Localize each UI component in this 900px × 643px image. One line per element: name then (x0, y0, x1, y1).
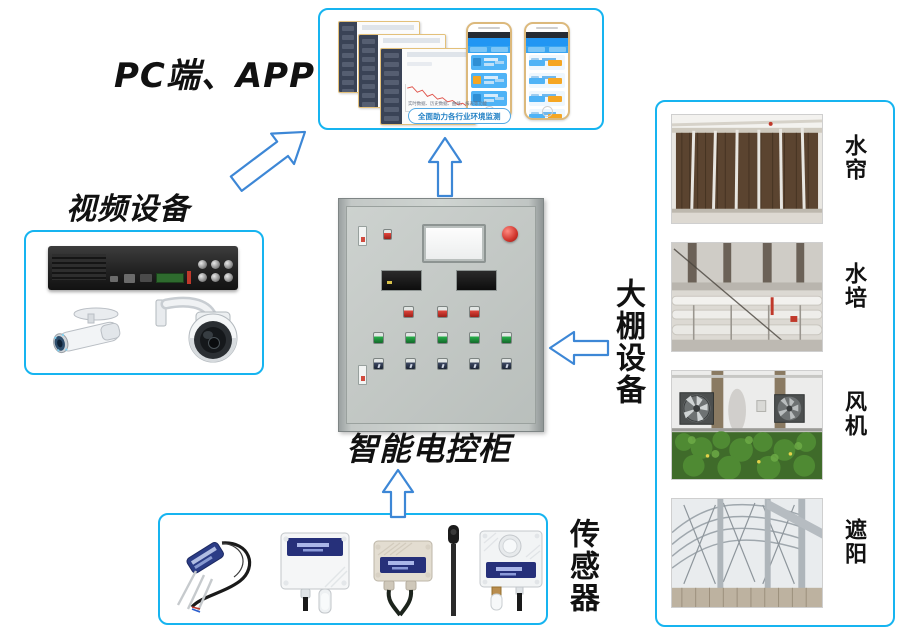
list-item (529, 73, 565, 88)
emergency-stop-button[interactable] (502, 226, 518, 242)
soil-moisture-sensor (170, 527, 262, 615)
greenhouse-item-label-hydroponics: 水培 (837, 262, 869, 310)
greenhouse-item-label-water-curtain: 水帘 (837, 134, 869, 182)
power-indicator (383, 229, 392, 240)
arrow-cabinet-to-pcapp (425, 136, 465, 198)
sidebar-mock (339, 22, 357, 92)
control-cabinet-label: 智能电控柜 (346, 424, 511, 470)
power-port (110, 276, 118, 282)
red-indicator[interactable] (437, 306, 448, 318)
hmi-touch-screen[interactable] (422, 224, 486, 263)
heatsink-fins (52, 254, 106, 280)
phone-control-list (524, 22, 570, 120)
selector-switch[interactable] (501, 358, 512, 370)
photo-water-curtain (671, 114, 823, 224)
greenhouse-item-label-exhaust-fan: 风机 (837, 390, 869, 438)
selector-switch[interactable] (469, 358, 480, 370)
cabinet-door (346, 206, 536, 424)
sidebar-mock (359, 35, 378, 107)
photo-hydroponics (671, 242, 823, 352)
digital-meter (456, 270, 497, 292)
list-item (529, 55, 565, 70)
green-indicator[interactable] (373, 332, 384, 344)
digital-meter (381, 270, 422, 292)
smart-electric-control-cabinet (338, 198, 544, 432)
phone-tab-bar (468, 46, 510, 53)
phone-speaker (468, 24, 510, 32)
video-equipment-panel (24, 230, 264, 375)
phone-speaker (526, 24, 568, 32)
arrow-video-to-pcapp (222, 112, 332, 194)
bnc-port (198, 273, 207, 282)
ptz-dome-camera (152, 294, 246, 366)
sensors-label: 传感器 (566, 518, 596, 614)
power-switch (187, 271, 191, 284)
photo-exhaust-fan (671, 370, 823, 480)
bnc-port (224, 260, 233, 269)
bnc-port (198, 260, 207, 269)
red-indicator[interactable] (403, 306, 414, 318)
lan-port (124, 274, 135, 283)
selector-switch[interactable] (405, 358, 416, 370)
pc-app-panel: 实时数据、历史数据、曲线、报表等功能 全面助力各行业环境监测 (318, 8, 604, 130)
serial-port (140, 274, 152, 282)
pc-app-label: PC端、APP (114, 48, 315, 97)
greenhouse-equipment-label: 大棚设备 (612, 278, 642, 406)
green-indicator[interactable] (437, 332, 448, 344)
door-latch-top[interactable] (358, 226, 367, 246)
red-indicator[interactable] (469, 306, 480, 318)
bnc-port (211, 260, 220, 269)
photo-sun-shading (671, 498, 823, 608)
list-item (471, 55, 507, 70)
pc-app-slogan-pill: 全面助力各行业环境监测 (408, 108, 511, 124)
green-indicator[interactable] (405, 332, 416, 344)
phone-nav-bar (468, 38, 510, 46)
dvr-recorder (48, 246, 238, 290)
air-pressure-sensor (275, 529, 355, 615)
phone-tab-bar (526, 46, 568, 53)
door-latch-bottom[interactable] (358, 365, 367, 385)
terminal-block (156, 273, 184, 283)
video-equipment-label: 视频设备 (66, 184, 190, 228)
diagram-canvas: PC端、APP (0, 0, 900, 643)
phone-home-button (526, 106, 568, 117)
selector-switch[interactable] (437, 358, 448, 370)
list-item (529, 91, 565, 106)
arrow-cabinet-to-greenhouse (548, 328, 610, 368)
phone-nav-bar (526, 38, 568, 46)
arrow-sensors-to-cabinet (379, 468, 417, 518)
sidebar-mock (381, 49, 402, 124)
sensors-panel (158, 513, 548, 625)
temp-humidity-sensor (476, 529, 546, 613)
greenhouse-item-label-sun-shading: 遮阳 (837, 518, 869, 566)
list-item (471, 73, 507, 88)
bnc-port (211, 273, 220, 282)
bullet-camera (44, 304, 142, 356)
greenhouse-equipment-panel: 水帘 (655, 100, 895, 627)
green-indicator[interactable] (469, 332, 480, 344)
selector-switch[interactable] (373, 358, 384, 370)
pc-app-feature-caption: 实时数据、历史数据、曲线、报表等功能 (408, 101, 487, 107)
green-indicator[interactable] (501, 332, 512, 344)
bnc-port (224, 273, 233, 282)
illuminance-sensor (370, 523, 468, 619)
